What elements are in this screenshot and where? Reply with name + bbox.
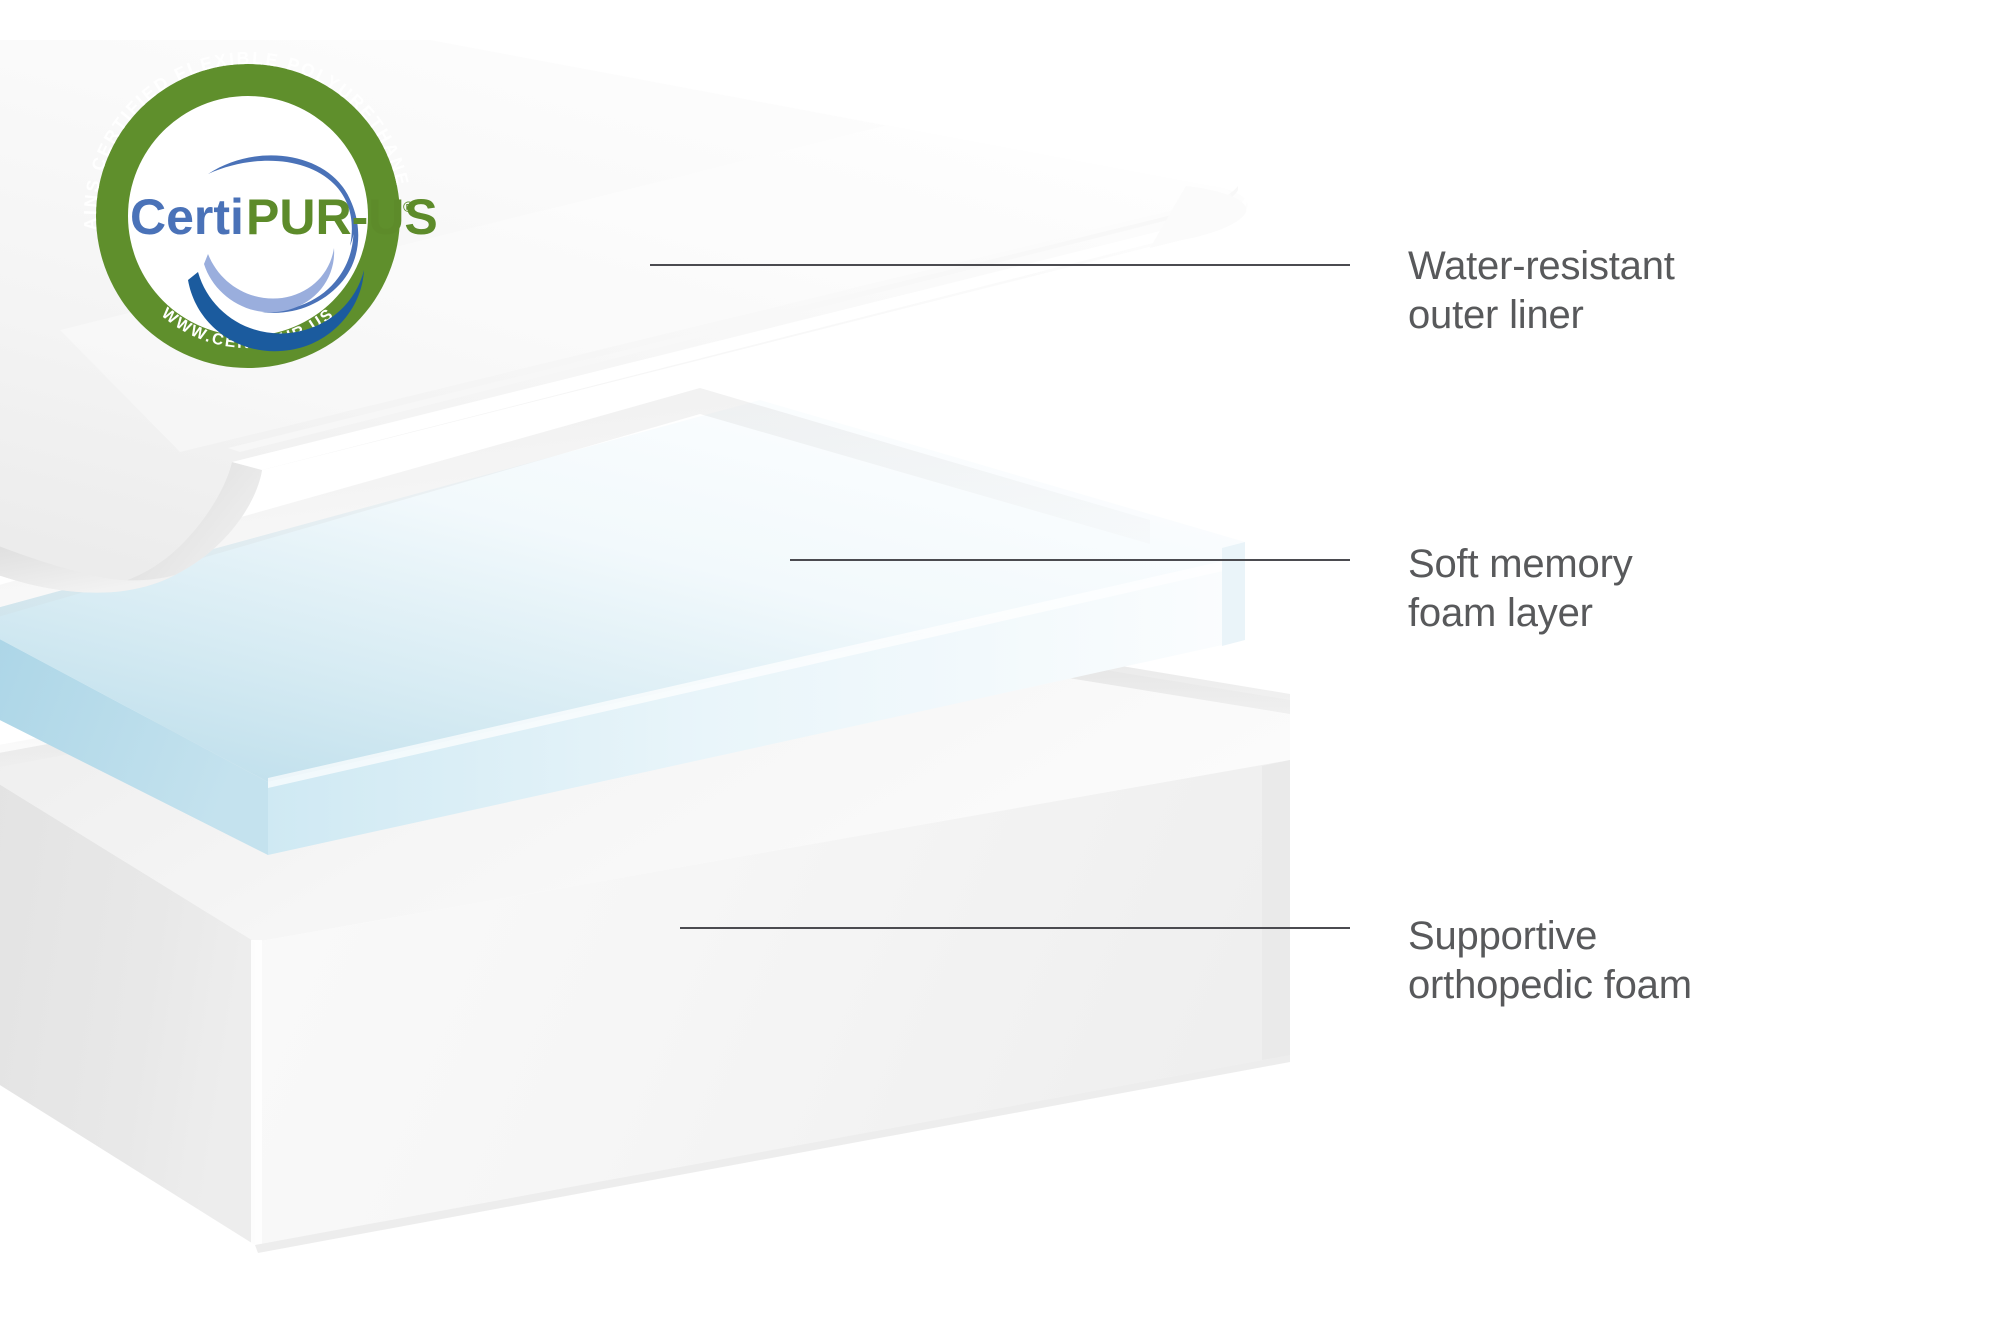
leader-line-memory-foam (790, 559, 1350, 561)
diagram-canvas: CONTAINS CERTIFIED FLEXIBLE POLYURETHANE… (0, 0, 2000, 1334)
callout-label-orthopedic-foam: Supportive orthopedic foam (1408, 912, 1848, 1010)
badge-wordmark-purus: PUR-US (246, 189, 438, 245)
leader-line-orthopedic-foam (680, 927, 1350, 929)
badge-wordmark: Certi PUR-US ® (130, 189, 438, 245)
badge-wordmark-certi: Certi (130, 189, 244, 245)
badge-registered-mark: ® (403, 199, 414, 216)
leader-line-outer-liner (650, 264, 1350, 266)
certipur-us-badge: CONTAINS CERTIFIED FLEXIBLE POLYURETHANE… (58, 26, 438, 406)
callout-label-memory-foam: Soft memory foam layer (1408, 540, 1828, 638)
callout-label-outer-liner: Water-resistant outer liner (1408, 242, 1828, 340)
